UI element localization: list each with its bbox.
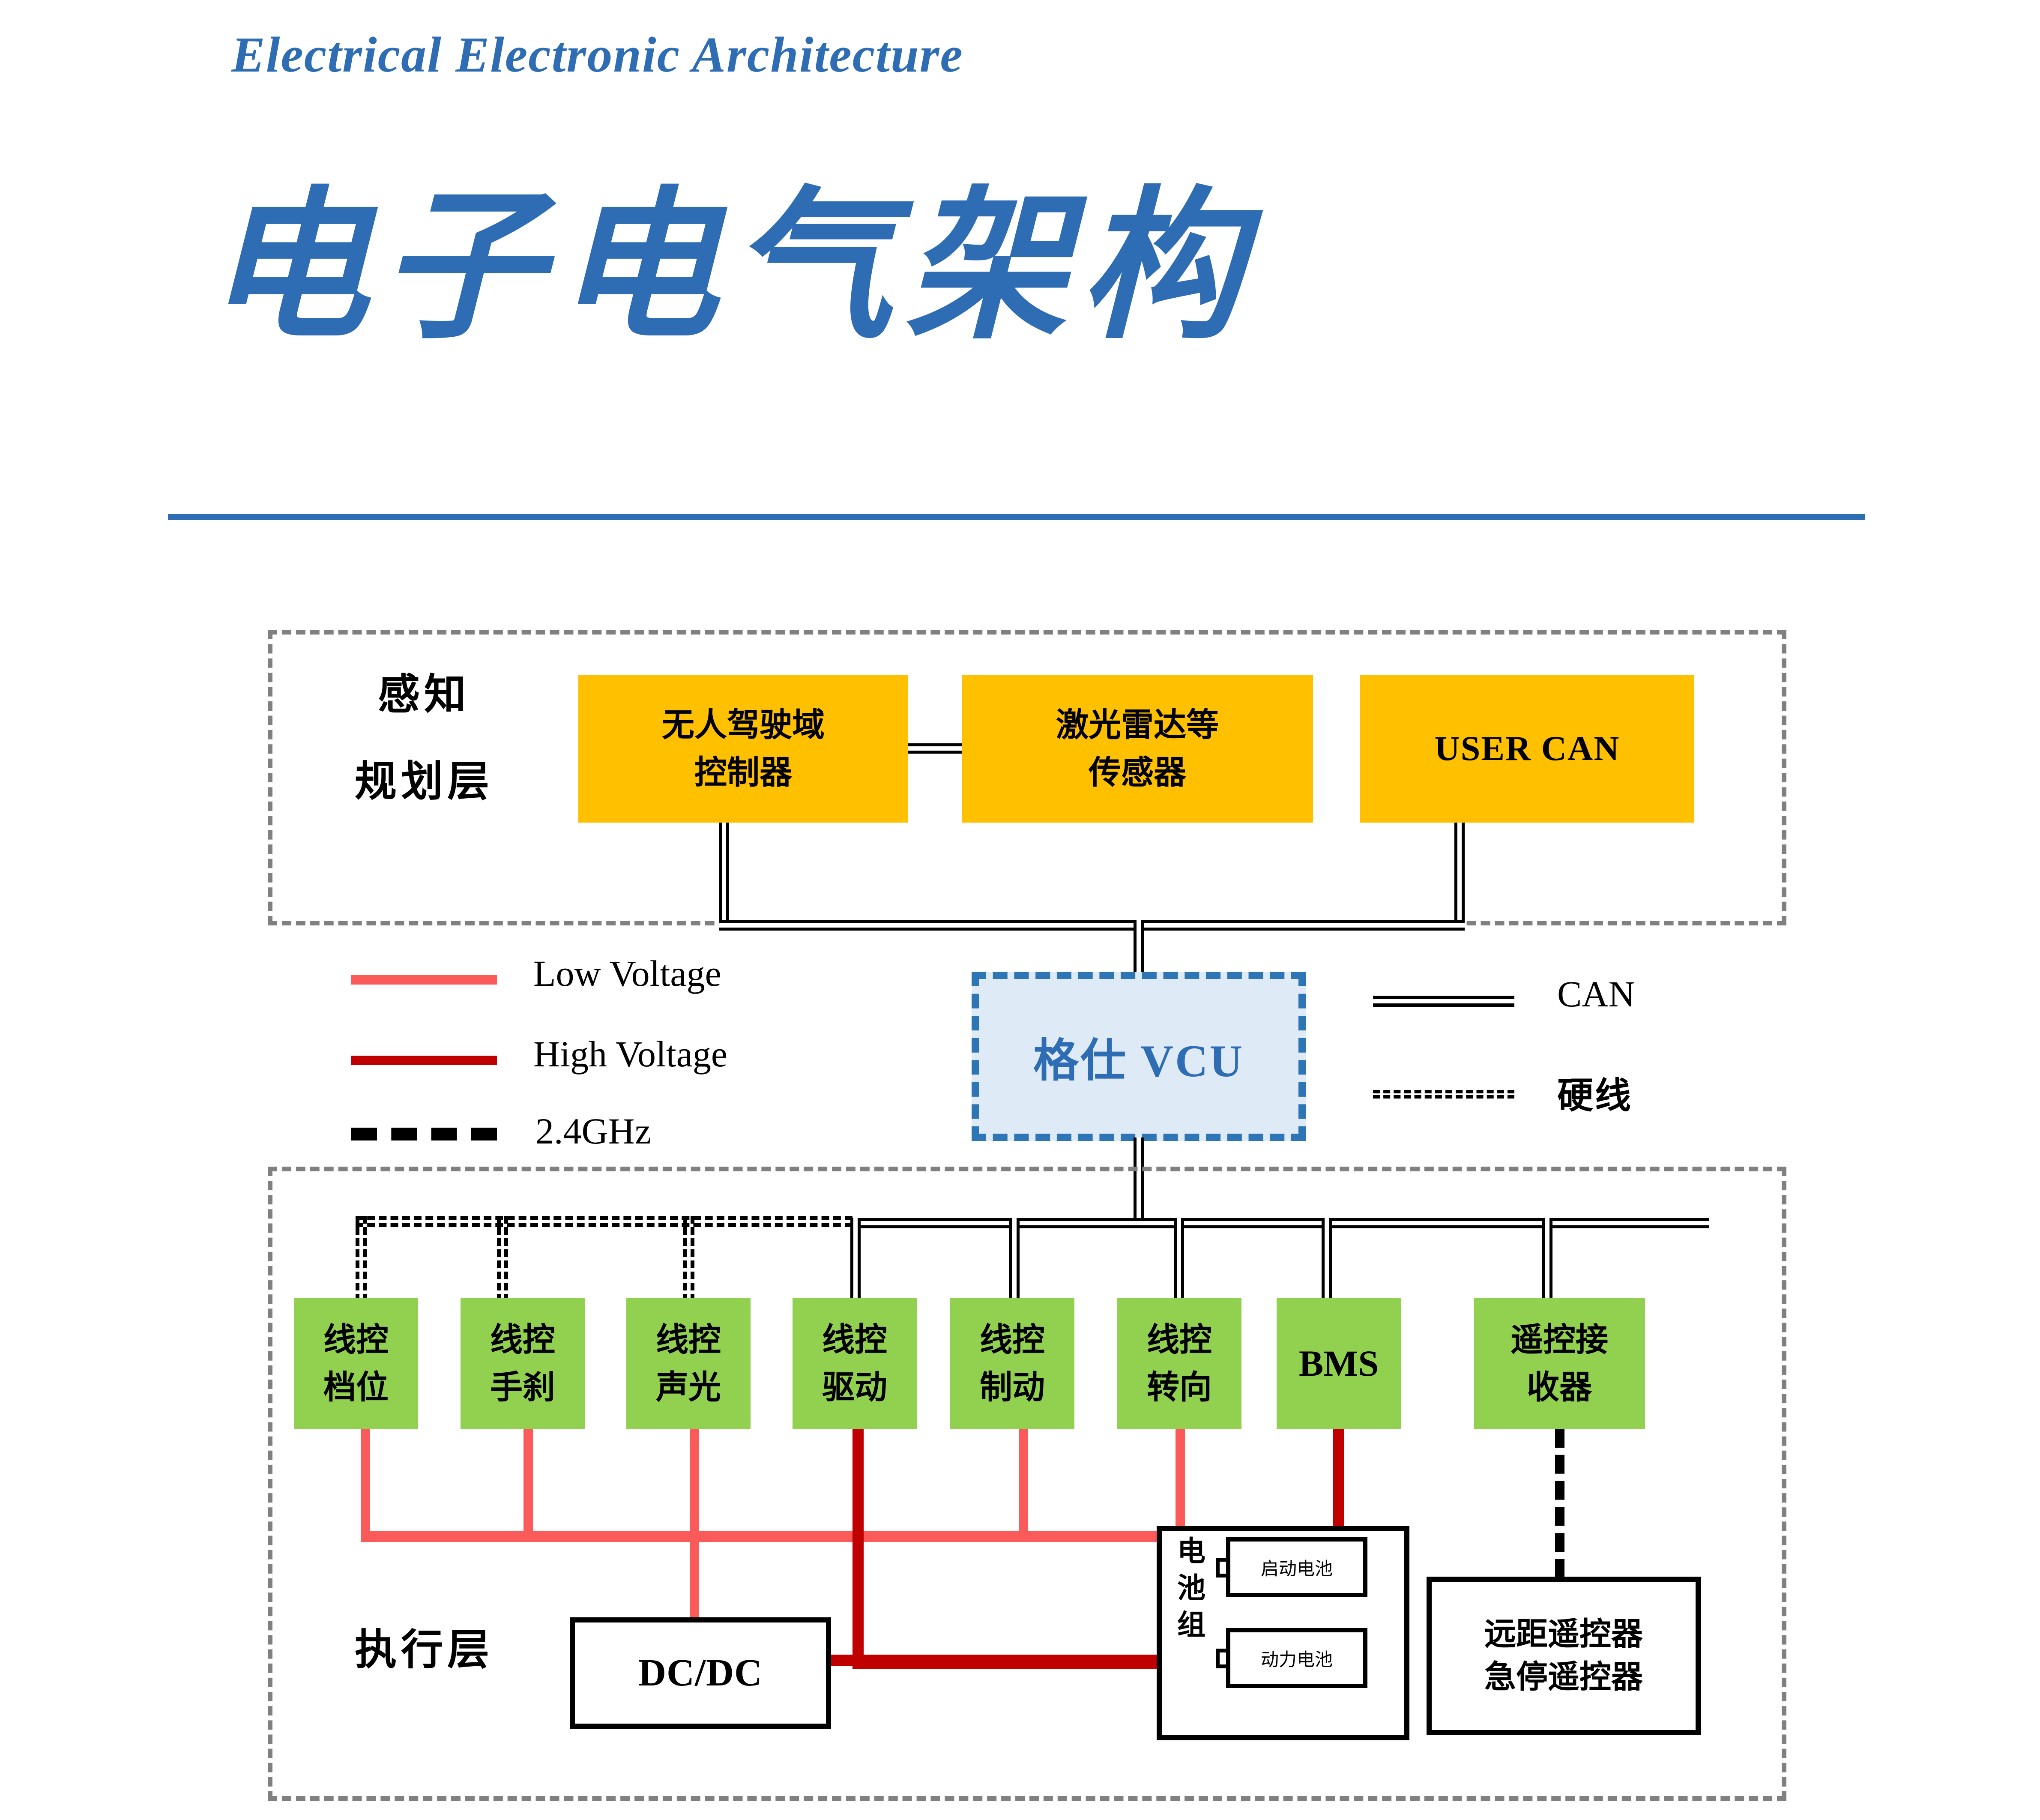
node-label: BMS	[1299, 1337, 1379, 1390]
node-dcdc-converter[interactable]: DC/DC	[570, 1617, 831, 1729]
can-drop-controller	[719, 823, 729, 925]
can-link-controller-to-sensors	[908, 743, 962, 754]
legend-swatch-can	[1373, 996, 1514, 1007]
legend-label-high-voltage: High Voltage	[533, 1033, 727, 1075]
node-label: 无人驾驶域控制器	[662, 701, 825, 796]
lv-drop-brake	[1019, 1429, 1028, 1531]
lv-drop-gear	[361, 1429, 370, 1540]
node-remote-control-receiver[interactable]: 遥控接收器	[1474, 1298, 1645, 1429]
node-drive-by-wire-light-sound[interactable]: 线控声光	[626, 1298, 751, 1429]
node-label: 线控声光	[656, 1316, 721, 1410]
battery-cell-traction[interactable]: 动力电池	[1226, 1628, 1367, 1688]
lv-feed-dcdc	[690, 1531, 699, 1621]
page-title-english: Electrical Electronic Architecture	[231, 26, 963, 84]
page-title-chinese: 电子电气架构	[206, 184, 1254, 347]
rf-link-24ghz	[1555, 1429, 1564, 1578]
node-remote-controllers[interactable]: 远距遥控器急停遥控器	[1427, 1577, 1701, 1735]
node-label: DC/DC	[638, 1647, 763, 1699]
node-autonomous-driving-domain-controller[interactable]: 无人驾驶域控制器	[578, 675, 908, 823]
battery-pack-label: 电池组	[1172, 1533, 1211, 1643]
hardwire-drop-handbrake	[497, 1216, 508, 1302]
lv-drop-lightsound	[690, 1429, 699, 1540]
perception-layer-label: 感知 规划层	[334, 673, 514, 804]
legend-swatch-high-voltage	[351, 1056, 497, 1065]
can-trunk-to-vcu	[1134, 920, 1144, 976]
lv-drop-handbrake	[523, 1429, 533, 1540]
node-user-can[interactable]: USER CAN	[1360, 675, 1694, 823]
node-drive-by-wire-drive[interactable]: 线控驱动	[793, 1298, 917, 1429]
lv-bus-main	[361, 1531, 1185, 1542]
can-drop-bms	[1322, 1218, 1332, 1304]
hv-run-dcdc-to-battery	[829, 1655, 1159, 1666]
node-label: 线控转向	[1147, 1316, 1212, 1410]
can-bus-perception	[719, 920, 1465, 931]
node-label: 遥控接收器	[1511, 1316, 1608, 1410]
can-drop-remote-receiver	[1542, 1218, 1552, 1304]
perception-layer-label-line1: 感知	[334, 673, 514, 717]
node-label: 远距遥控器急停遥控器	[1484, 1613, 1643, 1699]
hardwire-drop-gear	[356, 1216, 367, 1302]
node-label: 线控档位	[323, 1316, 389, 1410]
battery-cell-starter[interactable]: 启动电池	[1226, 1537, 1367, 1597]
node-label: 线控驱动	[822, 1316, 887, 1410]
can-drop-drive	[850, 1218, 861, 1304]
hv-drop-drive	[852, 1429, 864, 1669]
legend-swatch-24ghz	[351, 1128, 497, 1140]
perception-layer-label-line2: 规划层	[334, 760, 514, 804]
execution-layer-label: 执行层	[326, 1628, 523, 1672]
node-lidar-sensors[interactable]: 激光雷达等传感器	[962, 675, 1313, 823]
node-label: USER CAN	[1435, 723, 1620, 774]
legend-swatch-hardwire	[1373, 1090, 1514, 1099]
hv-drop-bms	[1333, 1429, 1344, 1527]
legend-label-24ghz: 2.4GHz	[535, 1110, 651, 1152]
legend-label-hardwire: 硬线	[1557, 1067, 1633, 1119]
node-drive-by-wire-steering[interactable]: 线控转向	[1117, 1298, 1241, 1429]
node-vcu[interactable]: 格仕 VCU	[972, 972, 1306, 1141]
node-bms[interactable]: BMS	[1277, 1298, 1401, 1429]
legend-swatch-low-voltage	[351, 975, 497, 985]
can-bus-execution	[850, 1218, 1709, 1228]
can-drop-steering	[1174, 1218, 1184, 1304]
can-drop-user-can	[1454, 823, 1465, 925]
node-drive-by-wire-handbrake[interactable]: 线控手刹	[461, 1298, 585, 1429]
can-drop-brake	[1009, 1218, 1020, 1304]
battery-cell-label: 启动电池	[1261, 1554, 1333, 1581]
node-label: 激光雷达等传感器	[1056, 701, 1219, 796]
lv-drop-steering	[1176, 1429, 1185, 1540]
hardwire-bus-execution	[356, 1216, 852, 1227]
legend-label-low-voltage: Low Voltage	[533, 952, 721, 995]
node-drive-by-wire-gear[interactable]: 线控档位	[294, 1298, 418, 1429]
hardwire-drop-lightsound	[683, 1216, 694, 1302]
header-divider-rule	[168, 514, 1865, 520]
vcu-label: 格仕 VCU	[1033, 1024, 1244, 1090]
legend-label-can: CAN	[1557, 973, 1635, 1015]
node-drive-by-wire-brake[interactable]: 线控制动	[950, 1298, 1074, 1429]
node-label: 线控手刹	[490, 1316, 555, 1410]
battery-cell-label: 动力电池	[1261, 1645, 1333, 1671]
node-label: 线控制动	[980, 1316, 1045, 1410]
